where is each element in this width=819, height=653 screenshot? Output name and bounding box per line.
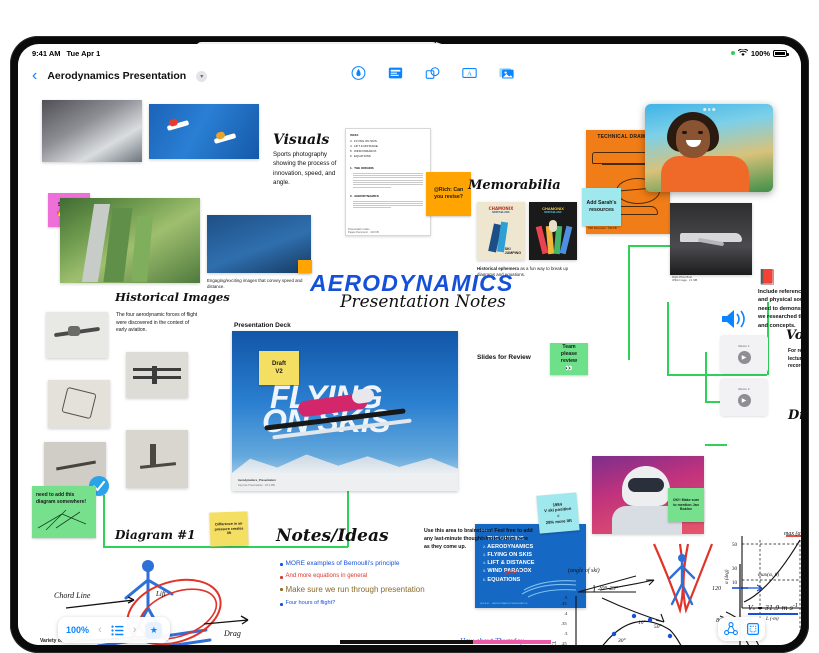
aircraft-photo[interactable] <box>670 203 752 275</box>
text-box-icon[interactable]: A <box>459 64 480 81</box>
media-icon[interactable] <box>496 64 517 81</box>
voiceover-heading: Voiceover <box>786 328 801 343</box>
slide-file-meta: Keynote Presentation · 18.2 MB <box>238 484 275 487</box>
pressure-note[interactable]: Difference in air pressure creates lift <box>209 511 248 546</box>
v-ski-note[interactable]: 1984V ski position=28% more lift <box>536 492 579 533</box>
notes-ideas-list: MORE examples of Bernoulli's principleAn… <box>280 560 530 612</box>
speaker-wave-icon <box>720 308 750 330</box>
share-nodes-icon[interactable] <box>723 622 738 637</box>
historic-photo-2[interactable] <box>126 352 188 398</box>
index-doc-footer: Presentation IndexPages Document · 120 K… <box>348 228 379 234</box>
sticky-note-icon[interactable] <box>385 64 406 81</box>
ski-hill-photo[interactable] <box>60 198 200 283</box>
chart-annotation: (angle of ski) <box>568 567 600 574</box>
svg-text:10: 10 <box>732 581 738 586</box>
back-button[interactable]: ‹ <box>32 68 37 84</box>
svg-text:Chord Line: Chord Line <box>54 591 91 600</box>
svg-text:max (α): max (α) <box>784 530 801 537</box>
ipad-screen: 9:41 AM Tue Apr 1 100% ‹ Aerodynamics Pr… <box>18 44 801 645</box>
markup-pen-icon[interactable] <box>348 64 369 81</box>
jan-notice-note[interactable]: OK!! Make sure to mention Jan Boklov <box>668 488 704 522</box>
blue-photo-caption: Engaging/exciting images that convey spe… <box>207 278 305 290</box>
svg-text:120: 120 <box>712 586 721 592</box>
svg-text:.4: .4 <box>564 611 568 616</box>
progress-bar-sketch <box>340 640 480 644</box>
svg-text:30°: 30° <box>617 637 627 644</box>
svg-text:max(α, β): max(α, β) <box>758 571 779 578</box>
svg-text:Lift: Lift <box>155 590 167 598</box>
page-title: Aerodynamics Presentation <box>47 70 186 82</box>
play-icon[interactable]: ▶ <box>738 394 751 407</box>
facetime-participant-face <box>676 120 710 158</box>
visuals-body: Sports photography showing the process o… <box>273 150 349 187</box>
historic-photo-1[interactable] <box>46 312 108 358</box>
notes-bullet: And more equations in general <box>280 573 530 579</box>
historic-photo-3[interactable] <box>48 380 110 428</box>
historical-images-heading: Historical Images <box>115 290 230 304</box>
svg-text:.45: .45 <box>561 601 567 606</box>
shapes-icon[interactable] <box>422 64 443 81</box>
connector-line <box>628 245 630 360</box>
canvas-toolbar: A <box>348 64 517 81</box>
chamonix-poster-1[interactable]: CHAMONIX MONT-BLANC SKIJUMPING <box>477 202 525 260</box>
memorabilia-heading: Memorabilia <box>468 178 561 193</box>
index-slide-item: 3. FLYING ON SKIS <box>483 551 535 559</box>
team-review-note[interactable]: Team please review 👀 <box>550 343 588 375</box>
notes-bullet: MORE examples of Bernoulli's principle <box>280 560 530 567</box>
notes-bullet: Four hours of flight? <box>280 600 530 606</box>
svg-text:50: 50 <box>732 543 738 548</box>
references-text: Include references, print and physical s… <box>758 288 801 330</box>
diagram-one-heading: Diagram #1 <box>115 528 196 542</box>
presentation-deck-heading: Presentation Deck <box>234 322 291 329</box>
next-button[interactable]: › <box>133 624 137 636</box>
zoom-toolbar: 100% ‹ › ★ <box>58 617 170 643</box>
chevron-down-icon[interactable]: ▾ <box>196 71 207 82</box>
status-date: Tue Apr 1 <box>66 49 100 58</box>
connector-line <box>103 495 105 547</box>
canvas-right-tools <box>718 617 765 641</box>
sarah-resources-note[interactable]: Add Sarah's resources <box>582 188 621 226</box>
progress-bar-pink <box>473 640 551 644</box>
zoom-level[interactable]: 100% <box>66 625 89 635</box>
wifi-icon <box>738 49 748 57</box>
prev-button[interactable]: ‹ <box>98 624 102 636</box>
status-time: 9:41 AM <box>32 49 60 58</box>
whiteboard-canvas[interactable]: Visuals Sports photography showing the p… <box>18 90 801 645</box>
notes-ideas-heading: Notes/Ideas <box>276 526 389 546</box>
star-icon[interactable]: ★ <box>145 622 162 639</box>
svg-text:.35: .35 <box>561 621 567 626</box>
flying-on-skis-slide[interactable]: DraftV2 FLYING ON SKIS Aerodynamics_Pres… <box>232 331 458 491</box>
slide-file-name: Aerodynamics_Presentation <box>238 478 276 482</box>
aircraft-photo-caption: Flight Photo BriefJPEG Image · 2.1 MB <box>672 276 697 282</box>
facetime-participant-body <box>661 156 749 192</box>
svg-text:A: A <box>467 70 472 77</box>
play-icon[interactable]: ▶ <box>738 351 751 364</box>
historical-images-body: The four aerodynamic forces of flight we… <box>116 312 200 335</box>
svg-text:.5: .5 <box>564 595 568 600</box>
diagrams-heading: Diagrams <box>788 408 801 423</box>
battery-percent: 100% <box>751 49 770 58</box>
connector-line <box>667 374 767 376</box>
references-emoji: 📕 <box>758 268 777 286</box>
more-dots-icon[interactable] <box>703 108 715 111</box>
voiceover-clip-2[interactable]: Memo 2 ▶ <box>720 378 768 416</box>
blue-speed-photo[interactable] <box>207 215 311 273</box>
svg-text:.25: .25 <box>561 641 567 645</box>
connector-line <box>103 546 348 548</box>
recording-indicator-icon <box>731 51 735 55</box>
ipad-device-frame: 9:41 AM Tue Apr 1 100% ‹ Aerodynamics Pr… <box>10 36 809 653</box>
index-document-card[interactable]: INDEX 3. FLYING ON SKIS4. LIFT & DISTANC… <box>345 128 431 236</box>
visuals-heading: Visuals <box>273 132 329 148</box>
svg-text:30: 30 <box>732 567 738 572</box>
svg-text:.3: .3 <box>564 631 568 636</box>
facetime-eye-right <box>698 131 703 134</box>
slides-for-review-heading: Slides for Review <box>477 354 531 361</box>
historic-photo-4[interactable] <box>126 430 188 488</box>
facetime-window[interactable] <box>645 104 773 192</box>
svg-text:Drag: Drag <box>223 629 241 638</box>
notes-bullet: Make sure we run through presentation <box>280 585 530 594</box>
reply-yes: yes!! <box>504 568 521 576</box>
ski-jump-photo-1[interactable] <box>42 100 142 162</box>
voiceover-body: For reference, lecture and group recordi… <box>788 348 801 371</box>
list-icon[interactable] <box>111 625 124 636</box>
battery-icon <box>773 50 787 57</box>
frame-icon[interactable] <box>745 622 760 637</box>
status-bar: 9:41 AM Tue Apr 1 100% <box>18 44 801 62</box>
svg-text:α (deg): α (deg) <box>725 569 730 584</box>
connector-line <box>705 352 707 402</box>
ski-jump-photo-2[interactable] <box>149 104 259 159</box>
svg-text:CL: CL <box>553 641 558 645</box>
brainstorm-note: Use this area to brainstorm! Feel free t… <box>424 528 534 551</box>
diagram-note[interactable]: need to add this diagram somewhere! <box>32 486 96 538</box>
arrow-to-sketch <box>598 576 678 628</box>
connector-line <box>667 302 669 374</box>
board-subtitle: Presentation Notes <box>340 292 506 312</box>
connector-line <box>705 444 727 446</box>
chamonix-poster-2[interactable]: CHAMONIX MONT-BLANC <box>529 202 577 260</box>
facetime-eye-left <box>682 131 687 134</box>
rich-revise-note[interactable]: @Rich: Can you revise? <box>426 172 471 216</box>
voiceover-clip-1[interactable]: Memo 1 ▶ <box>720 335 768 373</box>
